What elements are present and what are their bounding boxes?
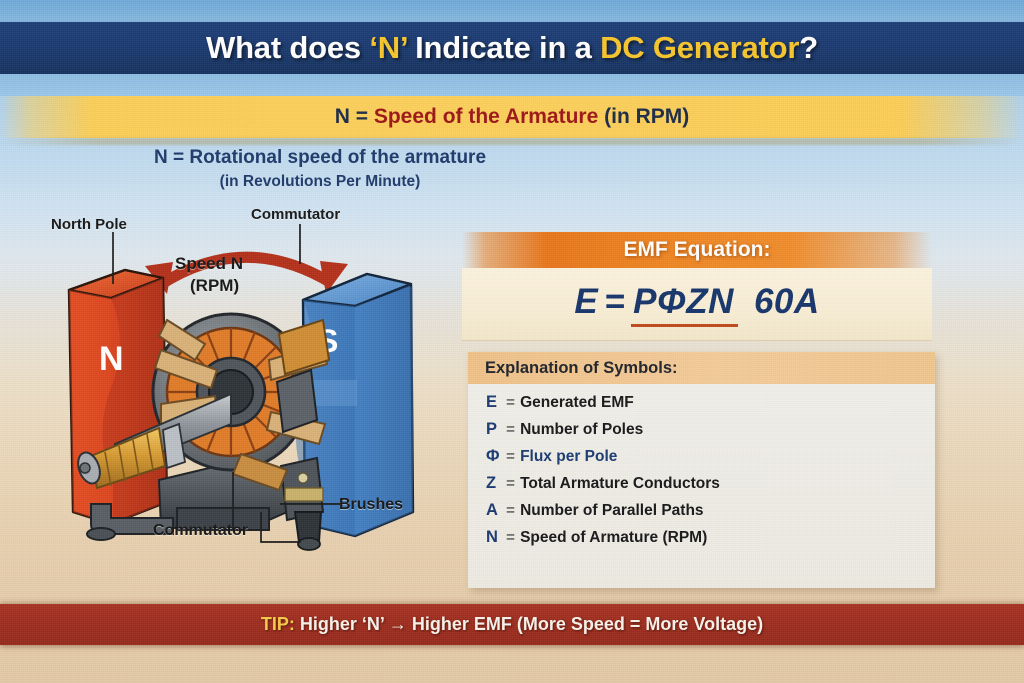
label-speed-n-line1: Speed N bbox=[175, 254, 243, 274]
title-text-part3: ? bbox=[799, 30, 818, 65]
title-text-part1: What does bbox=[206, 30, 369, 65]
symbols-panel-header: Explanation of Symbols: bbox=[468, 352, 935, 384]
symbol-equals: = bbox=[506, 502, 515, 520]
equation-numerator: PΦZN bbox=[631, 282, 738, 327]
label-commutator-bottom: Commutator bbox=[153, 522, 248, 540]
subtitle-block: N = Rotational speed of the armature (in… bbox=[40, 146, 600, 191]
tip-label: TIP: bbox=[261, 614, 295, 634]
symbol-description: Speed of Armature (RPM) bbox=[520, 529, 707, 547]
symbol-equals: = bbox=[506, 448, 515, 466]
symbol-glyph: Z bbox=[486, 474, 504, 493]
emf-equation: E = PΦZN 60A bbox=[574, 282, 819, 327]
magnet-label-n: N bbox=[99, 340, 124, 378]
symbol-row: Φ=Flux per Pole bbox=[486, 447, 935, 466]
equation-lhs: E bbox=[574, 282, 598, 322]
symbols-panel-title: Explanation of Symbols: bbox=[485, 359, 678, 378]
band-shadow bbox=[0, 138, 1024, 145]
symbol-glyph: Φ bbox=[486, 447, 504, 466]
symbol-row: A=Number of Parallel Paths bbox=[486, 501, 935, 520]
symbol-equals: = bbox=[506, 475, 515, 493]
label-north-pole: North Pole bbox=[51, 216, 127, 233]
symbol-equals: = bbox=[506, 529, 515, 547]
equation-equals: = bbox=[604, 282, 625, 322]
title-bar: What does ‘N’ Indicate in a DC Generator… bbox=[0, 22, 1024, 74]
symbol-equals: = bbox=[506, 394, 515, 412]
symbol-glyph: E bbox=[486, 393, 504, 412]
symbols-list: E=Generated EMFP=Number of PolesΦ=Flux p… bbox=[468, 384, 935, 588]
tip-text: Higher ‘N’ → Higher EMF (More Speed = Mo… bbox=[295, 614, 763, 634]
symbol-row: N=Speed of Armature (RPM) bbox=[486, 528, 935, 547]
title-text-part2: Indicate in a bbox=[407, 30, 600, 65]
definition-text: N = Speed of the Armature (in RPM) bbox=[335, 105, 690, 129]
definition-lead: N = bbox=[335, 105, 374, 128]
definition-tail: (in RPM) bbox=[598, 105, 689, 128]
equation-denominator: 60A bbox=[754, 282, 820, 322]
label-brushes: Brushes bbox=[339, 496, 403, 514]
symbol-row: P=Number of Poles bbox=[486, 420, 935, 439]
tip-banner: TIP: Higher ‘N’ → Higher EMF (More Speed… bbox=[0, 604, 1024, 645]
symbol-row: E=Generated EMF bbox=[486, 393, 935, 412]
symbol-description: Total Armature Conductors bbox=[520, 475, 720, 493]
tip-banner-text: TIP: Higher ‘N’ → Higher EMF (More Speed… bbox=[261, 614, 763, 635]
subtitle-line-2: (in Revolutions Per Minute) bbox=[40, 172, 600, 191]
below-title-strip bbox=[0, 74, 1024, 96]
dc-generator-illustration: N S bbox=[55, 212, 475, 572]
page-title: What does ‘N’ Indicate in a DC Generator… bbox=[206, 30, 818, 66]
symbol-glyph: A bbox=[486, 501, 504, 520]
label-speed-n-line2: (RPM) bbox=[190, 276, 239, 296]
symbol-description: Number of Poles bbox=[520, 421, 643, 439]
definition-band: N = Speed of the Armature (in RPM) bbox=[0, 96, 1024, 138]
symbol-equals: = bbox=[506, 421, 515, 439]
emf-equation-header-label: EMF Equation: bbox=[624, 238, 771, 262]
top-accent-strip bbox=[0, 0, 1024, 22]
generator-svg: N S bbox=[55, 212, 475, 572]
infographic-canvas: What does ‘N’ Indicate in a DC Generator… bbox=[0, 0, 1024, 683]
symbol-glyph: N bbox=[486, 528, 504, 547]
subtitle-line-1: N = Rotational speed of the armature bbox=[40, 146, 600, 170]
definition-highlight: Speed of the Armature bbox=[374, 105, 598, 128]
symbol-glyph: P bbox=[486, 420, 504, 439]
symbol-row: Z=Total Armature Conductors bbox=[486, 474, 935, 493]
title-symbol-n: ‘N’ bbox=[369, 30, 406, 65]
emf-equation-header: EMF Equation: bbox=[462, 232, 932, 268]
symbol-description: Flux per Pole bbox=[520, 448, 617, 466]
title-text-dc-generator: DC Generator bbox=[600, 30, 799, 65]
emf-equation-box: E = PΦZN 60A bbox=[462, 268, 932, 341]
symbol-description: Generated EMF bbox=[520, 394, 634, 412]
symbol-description: Number of Parallel Paths bbox=[520, 502, 703, 520]
label-commutator-top: Commutator bbox=[251, 206, 340, 223]
symbols-panel: Explanation of Symbols: E=Generated EMFP… bbox=[468, 352, 935, 588]
